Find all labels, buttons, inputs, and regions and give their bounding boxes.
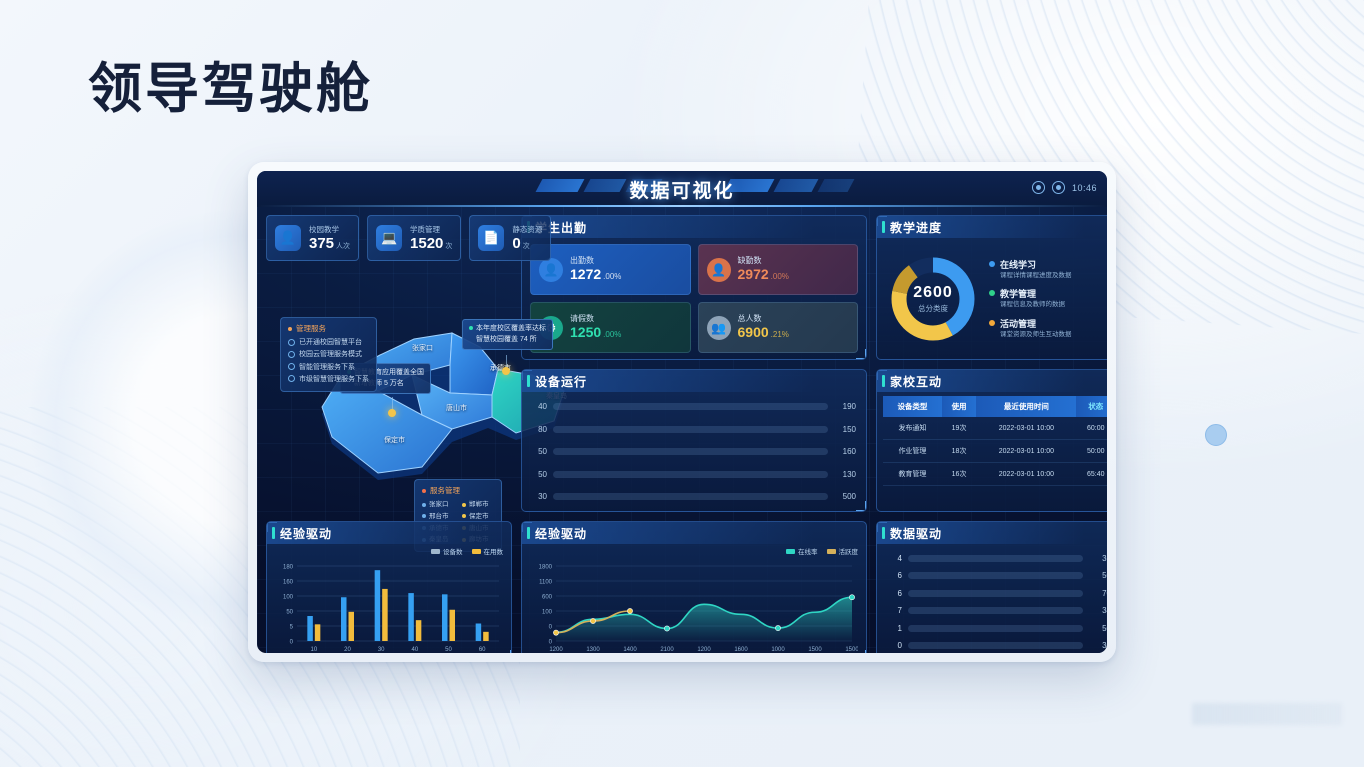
progress-bar-row: 50160	[532, 447, 856, 456]
row-value: 130	[834, 470, 856, 479]
map-pin[interactable]	[502, 367, 510, 375]
y-axis-tick: 0	[549, 640, 553, 646]
watermark-placeholder	[1192, 703, 1342, 725]
row-label: 40	[532, 402, 547, 411]
map-list-item[interactable]: 市级智慧管理服务下系	[288, 374, 369, 386]
x-axis-tick: 50	[445, 647, 452, 653]
data-point[interactable]	[553, 630, 558, 635]
progress-legend-item[interactable]: 在线学习 课程详情课程进度及数据	[989, 258, 1107, 280]
table-body: 发布通知19次2022-03-01 10:0060:00作业管理18次2022-…	[883, 417, 1107, 486]
panel-device-operation: 设备运行 4019080150501605013030500	[521, 369, 867, 512]
stat-unit: .00%	[771, 272, 789, 281]
bar[interactable]	[442, 594, 448, 641]
progress-bar-row: 150	[887, 624, 1107, 633]
legend-desc: 课程信息及教师的数据	[1000, 301, 1065, 309]
map-legend-title: 服务管理	[422, 485, 494, 496]
progress-bar-row: 650	[887, 571, 1107, 580]
row-value: 70	[1089, 589, 1107, 598]
interaction-table: 设备类型使用最近使用时间状态 发布通知19次2022-03-01 10:0060…	[883, 396, 1107, 486]
map-pin[interactable]	[388, 409, 396, 417]
stat-value: 6900	[738, 324, 769, 340]
table-cell: 发布通知	[883, 417, 942, 440]
row-label: 7	[887, 606, 902, 615]
bar-track	[908, 590, 1083, 597]
y-axis-tick: 1100	[539, 580, 553, 586]
map-list-item[interactable]: 智能管理服务下系	[288, 362, 369, 374]
legend-item[interactable]: 在用数	[472, 546, 504, 556]
row-value: 190	[834, 402, 856, 411]
bar[interactable]	[483, 632, 489, 641]
table-cell: 18次	[942, 440, 976, 463]
bar[interactable]	[450, 610, 456, 641]
stat-tile-total[interactable]: 👥 总人数 6900.21%	[698, 302, 859, 353]
dashboard-title: 数据可视化	[257, 176, 1107, 203]
bar[interactable]	[375, 570, 381, 641]
table-row[interactable]: 教育管理16次2022-03-01 10:0065:40	[883, 463, 1107, 486]
stat-unit: .21%	[771, 330, 789, 339]
bar-chart-legend: 设备数 在用数	[431, 546, 503, 556]
kpi-label: 静态资源	[512, 224, 542, 235]
row-label: 50	[532, 447, 547, 456]
bar-chart-svg: 1801601005050102030405060	[275, 562, 503, 653]
y-axis-tick: 5	[290, 625, 294, 631]
table-cell: 2022-03-01 10:00	[976, 417, 1076, 440]
legend-swatch-icon	[786, 549, 795, 554]
bar-chart-canvas[interactable]: 1801601005050102030405060	[275, 562, 503, 653]
x-axis-tick: 40	[411, 647, 418, 653]
kpi-card-quality[interactable]: 💻 学质管理 1520次	[367, 215, 461, 261]
map-region-label: 保定市	[384, 435, 405, 445]
panel-title-device: 设备运行	[522, 370, 866, 392]
panel-data-driven: 数据驱动 436650670734150030	[876, 521, 1107, 653]
bar[interactable]	[349, 612, 355, 641]
legend-desc: 课程详情课程进度及数据	[1000, 272, 1072, 280]
bar-track	[553, 448, 828, 455]
row-label: 4	[887, 554, 902, 563]
x-axis-tick: 1300	[586, 647, 600, 653]
page-title: 领导驾驶舱	[88, 58, 373, 120]
row-label: 1	[887, 624, 902, 633]
y-axis-tick: 0	[290, 640, 294, 646]
map-list-title: 管理服务	[288, 323, 369, 334]
header-actions: 10:46	[1032, 181, 1097, 194]
stat-value: 2972	[738, 266, 769, 282]
row-value: 36	[1089, 554, 1107, 563]
x-axis-tick: 10	[310, 647, 317, 653]
line-chart-canvas[interactable]: 1800110060010000120013001400210012001600…	[530, 562, 858, 653]
kpi-card-campus[interactable]: 👤 校园教学 375人次	[266, 215, 359, 261]
data-point[interactable]	[849, 595, 854, 600]
x-axis-tick: 1500	[845, 647, 858, 653]
person-alert-icon: 👤	[707, 258, 731, 282]
progress-bar-row: 40190	[532, 402, 856, 411]
progress-bar-row: 50130	[532, 470, 856, 479]
table-row[interactable]: 发布通知19次2022-03-01 10:0060:00	[883, 417, 1107, 440]
bar-track	[553, 493, 828, 500]
table-cell: 2022-03-01 10:00	[976, 440, 1076, 463]
legend-name: 活动管理	[1000, 317, 1072, 330]
person-check-icon: 👤	[539, 258, 563, 282]
row-value: 50	[1089, 571, 1107, 580]
device-bar-rows: 4019080150501605013030500	[530, 398, 858, 505]
bar-track	[908, 625, 1083, 632]
device-frame: 数据可视化 10:46 学生出勤 👤 出勤数 1272.00%	[248, 162, 1116, 662]
y-axis-tick: 1800	[539, 565, 553, 571]
bar-track	[553, 471, 828, 478]
legend-label: 在用数	[484, 546, 504, 556]
progress-bar-row: 030	[887, 641, 1107, 650]
legend-item[interactable]: 设备数	[431, 546, 463, 556]
row-value: 34	[1089, 606, 1107, 615]
kpi-label: 校园教学	[309, 224, 350, 235]
panel-bar-chart: 经验驱动 设备数 在用数 1801601005050102030405060	[266, 521, 512, 653]
table-column-header[interactable]: 设备类型	[883, 396, 942, 417]
data-driven-bar-rows: 436650670734150030	[885, 550, 1107, 653]
device-icon: 💻	[376, 225, 402, 251]
x-axis-tick: 1600	[734, 647, 748, 653]
table-cell: 60:00	[1076, 417, 1107, 440]
progress-donut-chart[interactable]: 2600 总分类度	[885, 251, 981, 347]
map-service-list: 管理服务 已开通校园智慧平台 校园云管理服务模式 智能管理服务下系 市级智慧管理…	[280, 317, 377, 392]
student-icon: 👤	[275, 225, 301, 251]
bar-track	[553, 426, 828, 433]
y-axis-tick: 100	[542, 610, 553, 616]
x-axis-tick: 1200	[549, 647, 563, 653]
callout-line-1: 本年度校区覆盖率达标	[476, 325, 546, 332]
stat-unit: .00%	[603, 272, 621, 281]
panel-title-interaction: 家校互动	[877, 370, 1107, 392]
bar[interactable]	[382, 589, 388, 641]
kpi-unit: 次	[445, 243, 452, 250]
x-axis-tick: 30	[378, 647, 385, 653]
data-point[interactable]	[627, 608, 632, 613]
kpi-unit: 人次	[336, 243, 350, 250]
row-value: 50	[1089, 624, 1107, 633]
panel-title-attendance: 学生出勤	[522, 216, 866, 238]
bar-track	[908, 607, 1083, 614]
row-label: 50	[532, 470, 547, 479]
resource-icon: 📄	[478, 225, 504, 251]
user-icon[interactable]	[1052, 181, 1065, 194]
y-axis-tick: 50	[286, 610, 293, 616]
kpi-card-resource[interactable]: 📄 静态资源 0次	[469, 215, 551, 261]
x-axis-tick: 60	[479, 647, 486, 653]
legend-dot-icon	[989, 320, 995, 326]
row-value: 150	[834, 425, 856, 434]
panel-title-line-chart: 经验驱动	[522, 522, 866, 544]
row-value: 30	[1089, 641, 1107, 650]
legend-label: 在线率	[798, 546, 818, 556]
y-axis-tick: 0	[549, 625, 553, 631]
progress-bar-row: 734	[887, 606, 1107, 615]
stat-label: 总人数	[738, 313, 789, 324]
line-chart-svg: 1800110060010000120013001400210012001600…	[530, 562, 858, 653]
settings-icon[interactable]	[1032, 181, 1045, 194]
map-region-label: 张家口	[412, 343, 433, 353]
bar[interactable]	[315, 624, 321, 641]
legend-name: 教学管理	[1000, 287, 1065, 300]
bar[interactable]	[307, 616, 313, 641]
legend-swatch-icon	[472, 549, 481, 554]
y-axis-tick: 160	[283, 580, 294, 586]
kpi-card-row: 👤 校园教学 375人次 💻 学质管理 1520次 📄	[266, 215, 512, 261]
progress-legend: 在线学习 课程详情课程进度及数据 教学管理 课程信息及教师的数据	[989, 258, 1107, 339]
progress-bar-row: 436	[887, 554, 1107, 563]
bar-track	[908, 572, 1083, 579]
panel-teaching-progress: 教学进度 2600 总分类度	[876, 215, 1107, 360]
dashboard-body: 学生出勤 👤 出勤数 1272.00% 👤 缺勤数 2972	[257, 207, 1107, 653]
x-axis-tick: 2100	[660, 647, 674, 653]
table-cell: 作业管理	[883, 440, 942, 463]
legend-cell: 邯郸市	[462, 499, 494, 511]
panel-title-bar-chart: 经验驱动	[267, 522, 511, 544]
table-column-header[interactable]: 状态	[1076, 396, 1107, 417]
panel-title-data-driven: 数据驱动	[877, 522, 1107, 544]
bar-track	[908, 642, 1083, 649]
table-cell: 16次	[942, 463, 976, 486]
table-row[interactable]: 作业管理18次2022-03-01 10:0050:00	[883, 440, 1107, 463]
decorative-circle	[1205, 424, 1227, 446]
donut-subtitle: 总分类度	[918, 303, 948, 314]
legend-dot-icon	[989, 261, 995, 267]
y-axis-tick: 600	[542, 595, 553, 601]
center-column: 👤 校园教学 375人次 💻 学质管理 1520次 📄	[266, 215, 512, 512]
bar-track	[908, 555, 1083, 562]
map-list-item[interactable]: 已开通校园智慧平台	[288, 337, 369, 349]
row-value: 160	[834, 447, 856, 456]
kpi-value: 375	[309, 235, 334, 252]
table-cell: 65:40	[1076, 463, 1107, 486]
legend-label: 设备数	[443, 546, 463, 556]
row-label: 6	[887, 589, 902, 598]
header-clock: 10:46	[1072, 183, 1097, 193]
dashboard: 数据可视化 10:46 学生出勤 👤 出勤数 1272.00%	[257, 171, 1107, 653]
legend-swatch-icon	[431, 549, 440, 554]
bar[interactable]	[476, 624, 482, 642]
kpi-unit: 次	[523, 243, 530, 250]
map-area: 张家口 承德市 唐山市 保定市 秦皇岛 本年度校区覆盖率达标 智慧校园覆盖 74…	[266, 261, 512, 558]
map-list-item[interactable]: 校园云管理服务模式	[288, 349, 369, 361]
map-callout-coverage[interactable]: 本年度校区覆盖率达标 智慧校园覆盖 74 所	[462, 319, 553, 350]
stat-tile-absence[interactable]: 👤 缺勤数 2972.00%	[698, 244, 859, 295]
table-column-header[interactable]: 使用	[942, 396, 976, 417]
group-icon: 👥	[707, 316, 731, 340]
stat-value: 1272	[570, 266, 601, 282]
table-cell: 50:00	[1076, 440, 1107, 463]
stat-label: 缺勤数	[738, 255, 789, 266]
stat-unit: .00%	[603, 330, 621, 339]
row-label: 80	[532, 425, 547, 434]
table-header-row: 设备类型使用最近使用时间状态	[883, 396, 1107, 417]
progress-legend-item[interactable]: 教学管理 课程信息及教师的数据	[989, 287, 1107, 309]
legend-dot-icon	[989, 290, 995, 296]
panel-home-school-interaction: 家校互动 设备类型使用最近使用时间状态 发布通知19次2022-03-01 10…	[876, 369, 1107, 512]
bar[interactable]	[416, 620, 422, 641]
data-point[interactable]	[590, 618, 595, 623]
panel-title-progress: 教学进度	[877, 216, 1107, 238]
kpi-value: 1520	[410, 235, 443, 252]
x-axis-tick: 1500	[808, 647, 822, 653]
row-label: 6	[887, 571, 902, 580]
legend-label: 活跃度	[839, 546, 859, 556]
line-chart-legend: 在线率 活跃度	[786, 546, 858, 556]
data-point[interactable]	[775, 625, 780, 630]
map-region-label: 唐山市	[446, 403, 467, 413]
x-axis-tick: 1000	[771, 647, 785, 653]
y-axis-tick: 180	[283, 565, 294, 571]
row-label: 30	[532, 492, 547, 501]
progress-bar-row: 30500	[532, 492, 856, 501]
callout-dot-icon	[469, 326, 473, 330]
y-axis-tick: 100	[283, 595, 294, 601]
row-label: 0	[887, 641, 902, 650]
kpi-value: 0	[512, 235, 520, 252]
stat-label: 出勤数	[570, 255, 621, 266]
legend-cell: 张家口	[422, 499, 454, 511]
donut-value: 2600	[913, 284, 953, 302]
row-value: 500	[834, 492, 856, 501]
legend-name: 在线学习	[1000, 258, 1072, 271]
table-cell: 19次	[942, 417, 976, 440]
panel-line-chart: 经验驱动 在线率 活跃度 180011006001000012001300140…	[521, 521, 867, 653]
kpi-label: 学质管理	[410, 224, 452, 235]
legend-swatch-icon	[827, 549, 836, 554]
legend-desc: 课堂资源及师生互动数据	[1000, 331, 1072, 339]
table-cell: 教育管理	[883, 463, 942, 486]
bar[interactable]	[408, 593, 414, 641]
table-cell: 2022-03-01 10:00	[976, 463, 1076, 486]
x-axis-tick: 1200	[697, 647, 711, 653]
stat-tile-attendance[interactable]: 👤 出勤数 1272.00%	[530, 244, 691, 295]
bar[interactable]	[341, 597, 347, 641]
x-axis-tick: 20	[344, 647, 351, 653]
table-column-header[interactable]: 最近使用时间	[976, 396, 1076, 417]
progress-legend-item[interactable]: 活动管理 课堂资源及师生互动数据	[989, 317, 1107, 339]
x-axis-tick: 1400	[623, 647, 637, 653]
bar-track	[553, 403, 828, 410]
progress-bar-row: 670	[887, 589, 1107, 598]
callout-line-2: 智慧校园覆盖 74 所	[469, 335, 546, 346]
legend-item[interactable]: 活跃度	[827, 546, 859, 556]
data-point[interactable]	[664, 626, 669, 631]
dashboard-header: 数据可视化 10:46	[257, 171, 1107, 207]
progress-bar-row: 80150	[532, 425, 856, 434]
legend-item[interactable]: 在线率	[786, 546, 818, 556]
